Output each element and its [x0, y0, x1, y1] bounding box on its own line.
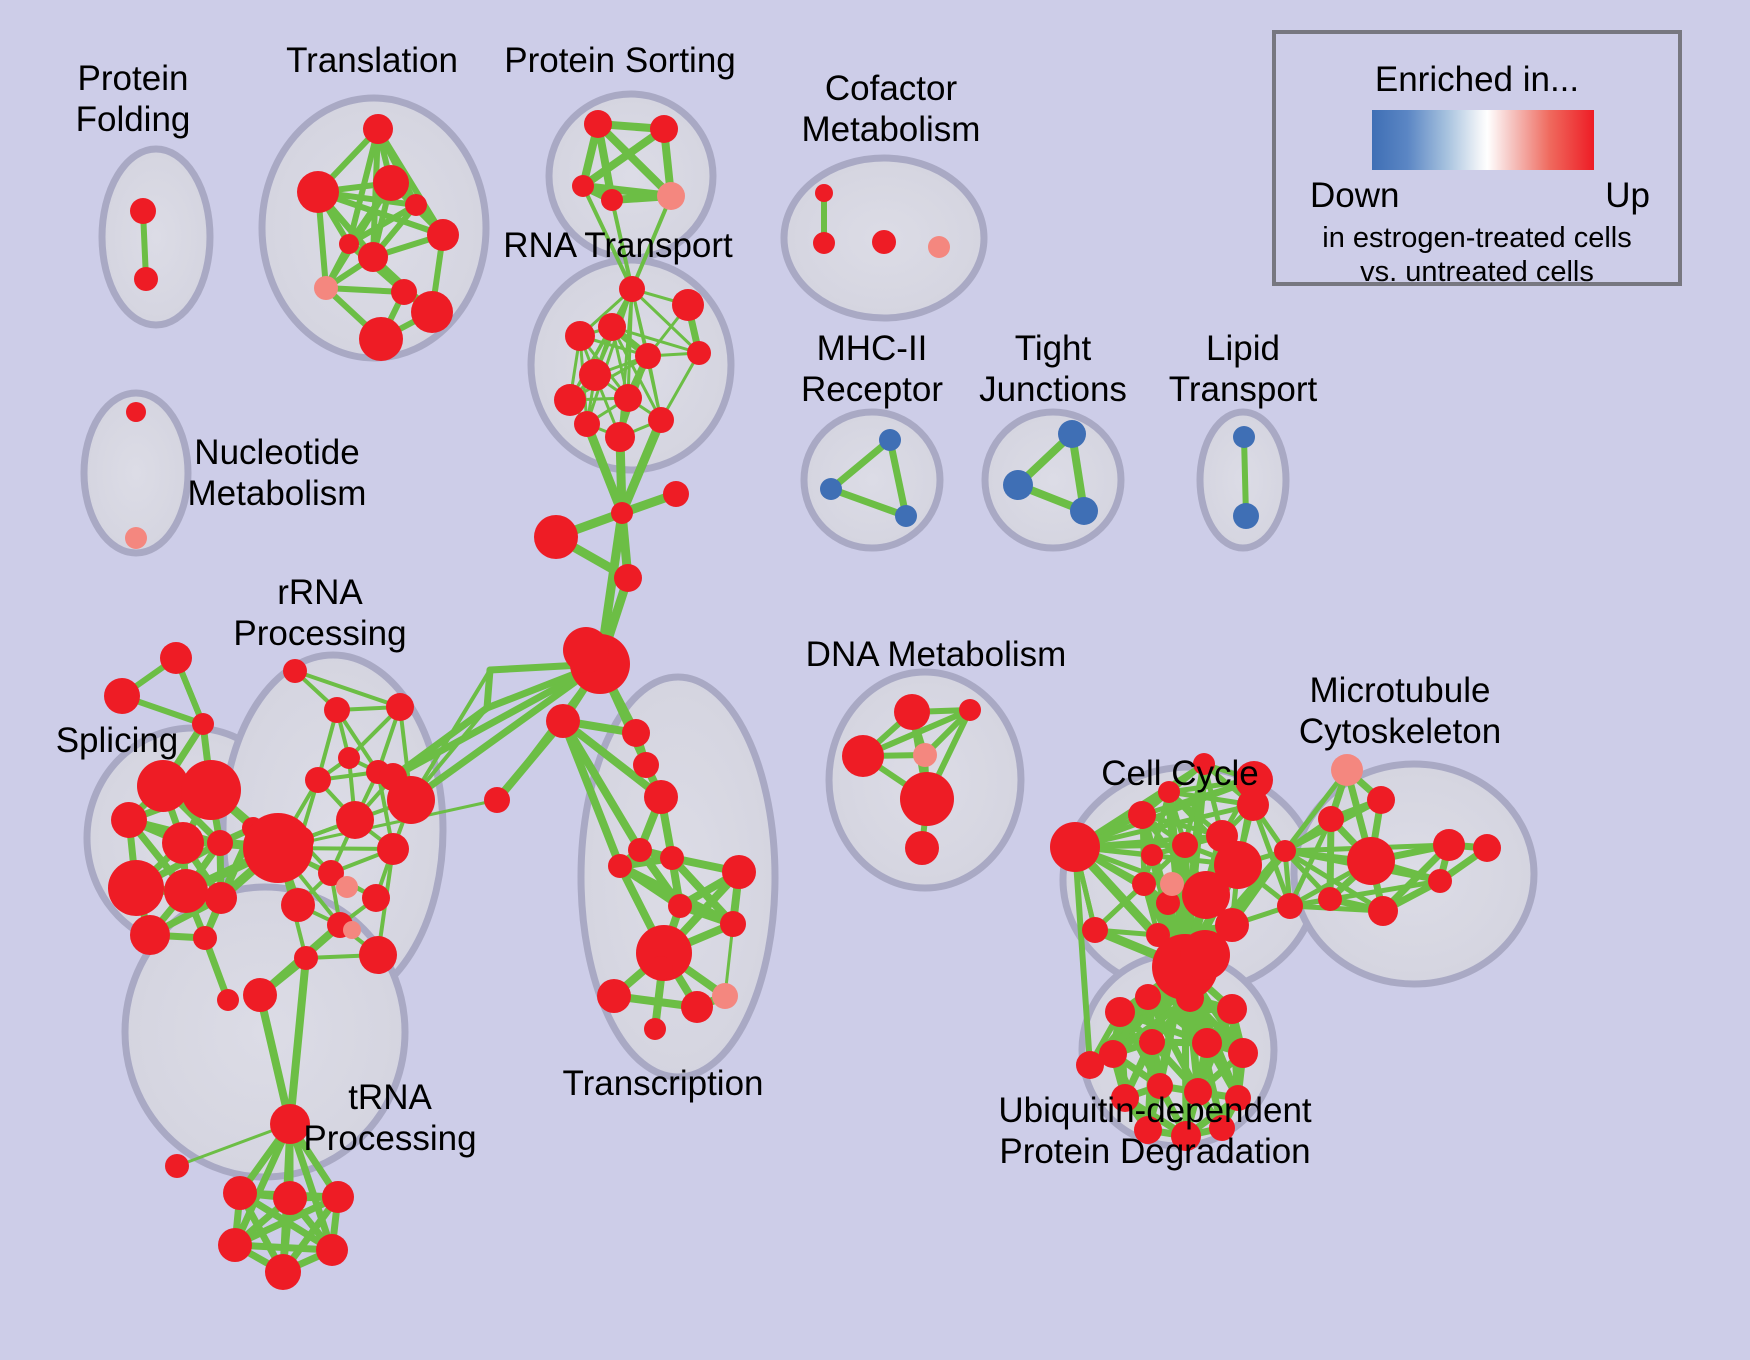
color-scale-bar	[1372, 110, 1594, 170]
legend-down-label: Down	[1310, 176, 1399, 216]
hull-protein-folding	[102, 149, 210, 325]
legend-up-label: Up	[1605, 176, 1650, 216]
network-canvas: Protein Folding Translation Protein Sort…	[0, 0, 1750, 1360]
hull-protein-sorting	[549, 94, 713, 258]
hull-mhc-ii	[804, 412, 940, 548]
legend-panel: Enriched in... Down Up in estrogen-treat…	[1272, 30, 1682, 286]
legend-subtitle-line-1: in estrogen-treated cells	[1276, 222, 1678, 255]
legend-title: Enriched in...	[1276, 60, 1678, 100]
legend-subtitle-line-2: vs. untreated cells	[1276, 256, 1678, 289]
